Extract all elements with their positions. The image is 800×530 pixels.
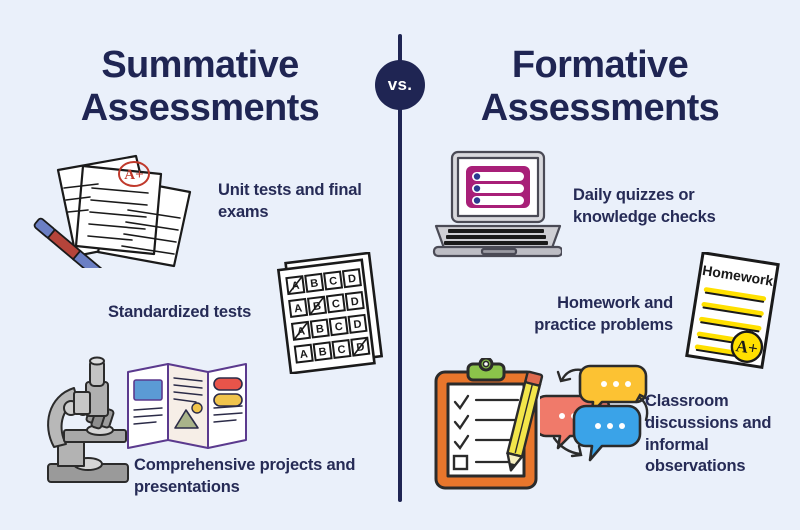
laptop-quiz-icon (432, 148, 562, 263)
svg-text:C: C (328, 275, 337, 288)
svg-text:D: D (350, 296, 359, 309)
page-title-summative: Summative Assessments (30, 44, 370, 129)
title-left-line2: Assessments (30, 87, 370, 130)
svg-text:C: C (334, 321, 343, 334)
svg-text:D: D (353, 318, 362, 331)
page-title-formative: Formative Assessments (430, 44, 770, 129)
exam-papers-icon: A+ (28, 148, 203, 268)
svg-text:B: B (315, 323, 324, 336)
vs-badge: vs. (375, 60, 425, 110)
speech-bubble-blue (574, 406, 640, 460)
title-right-line2: Assessments (430, 87, 770, 130)
svg-text:A+: A+ (124, 167, 143, 183)
keyboard-keys (444, 229, 548, 245)
svg-text:C: C (337, 344, 346, 357)
title-left-line1: Summative (30, 44, 370, 87)
homework-sheet-icon: Homework A+ (676, 252, 788, 374)
quiz-rows (472, 172, 524, 205)
vs-badge-label: vs. (388, 75, 413, 95)
clipboard-icon (428, 358, 553, 498)
label-comprehensive-projects: Comprehensive projects and presentations (134, 455, 379, 499)
label-classroom-discussions: Classroom discussions and informal obser… (645, 391, 795, 478)
label-unit-tests: Unit tests and final exams (218, 180, 388, 224)
svg-text:A: A (299, 348, 308, 361)
speech-bubbles-icon (540, 358, 652, 468)
svg-text:C: C (331, 298, 340, 311)
svg-text:B: B (310, 277, 319, 290)
brochure-icon (122, 358, 252, 458)
infographic-canvas: Summative Assessments Formative Assessme… (0, 0, 800, 530)
svg-text:D: D (347, 273, 356, 286)
label-standardized-tests: Standardized tests (108, 302, 308, 324)
label-homework-practice: Homework and practice problems (498, 293, 673, 337)
homework-grade-mark: A+ (734, 336, 759, 358)
label-daily-quizzes: Daily quizzes or knowledge checks (573, 185, 773, 229)
title-right-line1: Formative (430, 44, 770, 87)
svg-text:B: B (318, 346, 327, 359)
